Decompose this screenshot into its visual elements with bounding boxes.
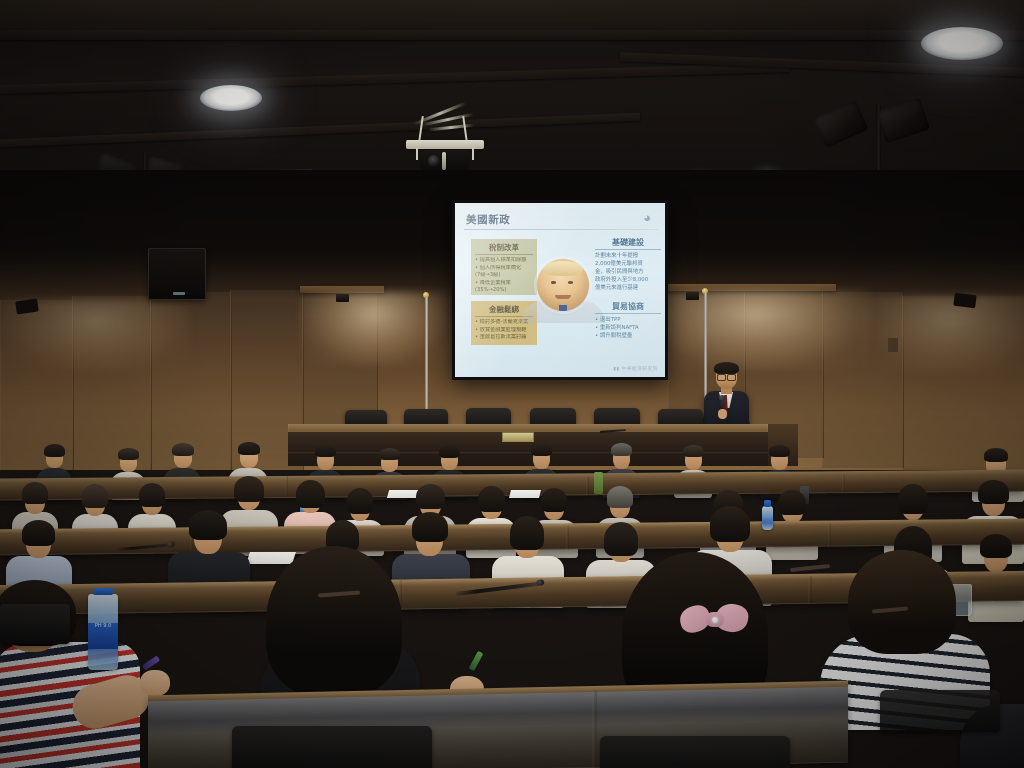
person-hair <box>189 510 227 540</box>
security-camera-right <box>953 293 976 309</box>
person-hair <box>769 445 790 457</box>
projector-lens <box>428 155 440 167</box>
presenter-glasses-lens-left <box>717 374 726 381</box>
ceiling-downlight-1 <box>200 85 262 111</box>
slide-block-infrastructure-line-1: 計劃未來十年提撥 <box>595 252 661 260</box>
slide-portrait-image <box>537 259 589 311</box>
ceiling-projector <box>398 112 494 174</box>
person-hand <box>140 670 170 696</box>
projector-cable-3 <box>428 124 474 132</box>
person-hair <box>984 448 1008 462</box>
slide-block-infrastructure-line-2: 2,000億美元聯邦資 <box>595 260 661 268</box>
person-hair <box>44 444 65 457</box>
person-hair-long <box>266 546 402 696</box>
person-hair-grey <box>611 443 632 456</box>
person-hair <box>848 550 956 654</box>
person-hair <box>439 445 460 458</box>
wall-accent-glow-right <box>640 290 870 370</box>
slide-title-rule <box>464 229 658 230</box>
slide-block-infrastructure-line-3: 金，吸引民間與地方 <box>595 268 661 276</box>
slide-block-trade-negotiation: 貿易協商 • 退出TPP • 重新談判NAFTA • 調升關稅壁壘 <box>595 301 661 340</box>
audience-seat-front-right <box>600 736 790 768</box>
slide-portrait-hair <box>543 261 583 276</box>
slide-box-tax-reform-line-3: (7級→3級) <box>475 272 533 280</box>
projector-drop-2 <box>472 148 474 160</box>
person-hair <box>412 512 448 542</box>
wall-accent-glow-far-right <box>860 296 1024 372</box>
slide-box-financial-deregulation-line-3: • 重啟葛拉斯法案討論 <box>475 334 533 342</box>
ceiling-beam-1 <box>0 30 1024 40</box>
slide-block-infrastructure: 基礎建設 計劃未來十年提撥 2,000億美元聯邦資 金，吸引民間與地方 政府外投… <box>595 237 661 293</box>
wall-light-fixture-left <box>336 294 349 302</box>
flag-left <box>414 292 438 420</box>
audience-seat-front-left <box>232 726 432 768</box>
person-hair <box>172 443 194 456</box>
person-hair <box>379 448 400 460</box>
hair-bow-accessory <box>680 600 750 640</box>
slide-block-infrastructure-heading: 基礎建設 <box>595 237 661 250</box>
projector-leg-2 <box>462 116 468 142</box>
wall-speaker-led <box>173 292 185 295</box>
slide-block-trade-negotiation-line-3: • 調升關稅壁壘 <box>595 332 661 340</box>
projector-power-cable <box>442 152 446 170</box>
person-hair <box>238 442 260 455</box>
ceiling-slab-top <box>0 0 1024 30</box>
slide-portrait-eye-left <box>551 281 556 284</box>
slide-corner-logo-icon: ◕ <box>637 209 657 226</box>
presenter-glasses-lens-right <box>727 374 736 381</box>
conference-hall-photo: 美國新政 ◕ 稅制改革 • 提高個人標準扣除額 • 個人所得稅率簡化 (7級→3… <box>0 0 1024 768</box>
handheld-microphone-head <box>719 395 725 401</box>
slide-block-infrastructure-line-4: 政府外投入至少8,000 <box>595 276 661 284</box>
projector-drop-1 <box>416 148 418 160</box>
slide-box-tax-reform-line-4: • 降低企業稅率 <box>475 280 533 288</box>
slide-box-tax-reform-heading: 稅制改革 <box>475 242 533 255</box>
projection-screen-frame: 美國新政 ◕ 稅制改革 • 提高個人標準扣除額 • 個人所得稅率簡化 (7級→3… <box>452 200 668 380</box>
person-hair <box>710 506 750 542</box>
slide-box-tax-reform-line-2: • 個人所得稅率簡化 <box>475 265 533 273</box>
person-hair <box>22 520 55 546</box>
presenter-glasses-icon <box>717 373 736 379</box>
slide-portrait-mouth <box>555 295 571 299</box>
desk-row-4-divider <box>592 690 597 768</box>
flag-left-pole <box>425 297 428 420</box>
person-hair <box>531 443 552 456</box>
slide-box-tax-reform-line-1: • 提高個人標準扣除額 <box>475 257 533 265</box>
person-hair <box>510 516 544 550</box>
presenter-hand <box>718 409 727 419</box>
person-hair <box>683 445 704 457</box>
hair-bow-gem-icon <box>712 617 718 623</box>
bottle-cap <box>93 588 113 595</box>
person-hair <box>604 522 638 556</box>
slide-block-trade-negotiation-heading: 貿易協商 <box>595 301 661 314</box>
slide-block-trade-negotiation-line-1: • 退出TPP <box>595 316 661 324</box>
pen <box>142 655 160 670</box>
person-hair <box>118 448 139 460</box>
wall-speaker-left <box>148 248 206 300</box>
audience-seat-mid-left <box>0 604 70 644</box>
audience-seat-mid-right <box>880 690 1000 732</box>
bottle-label: PH 9.0 <box>88 623 118 649</box>
person-hair <box>315 445 336 457</box>
slide-box-financial-deregulation-line-2: • 放寬金融業監理規範 <box>475 327 533 335</box>
water-bottle-front: PH 9.0 <box>88 594 118 670</box>
slide-box-tax-reform: 稅制改革 • 提高個人標準扣除額 • 個人所得稅率簡化 (7級→3級) • 降低… <box>471 239 537 295</box>
slide-block-infrastructure-line-5: 億美元來進行基建 <box>595 284 661 292</box>
slide-title: 美國新政 <box>466 212 510 227</box>
slide-box-tax-reform-line-5: (35%→20%) <box>475 287 533 295</box>
slide-block-trade-negotiation-line-2: • 重新談判NAFTA <box>595 324 661 332</box>
wall-outlet-panel <box>888 338 898 352</box>
slide-footer-logo: ▮▮ 中華經濟研究院 <box>613 366 658 372</box>
slide-portrait-eye-right <box>568 281 573 284</box>
slide-portrait-tie <box>559 305 567 311</box>
ceiling-downlight-2 <box>921 27 1003 60</box>
projection-screen: 美國新政 ◕ 稅制改革 • 提高個人標準扣除額 • 個人所得稅率簡化 (7級→3… <box>455 203 665 377</box>
pen <box>469 651 484 671</box>
